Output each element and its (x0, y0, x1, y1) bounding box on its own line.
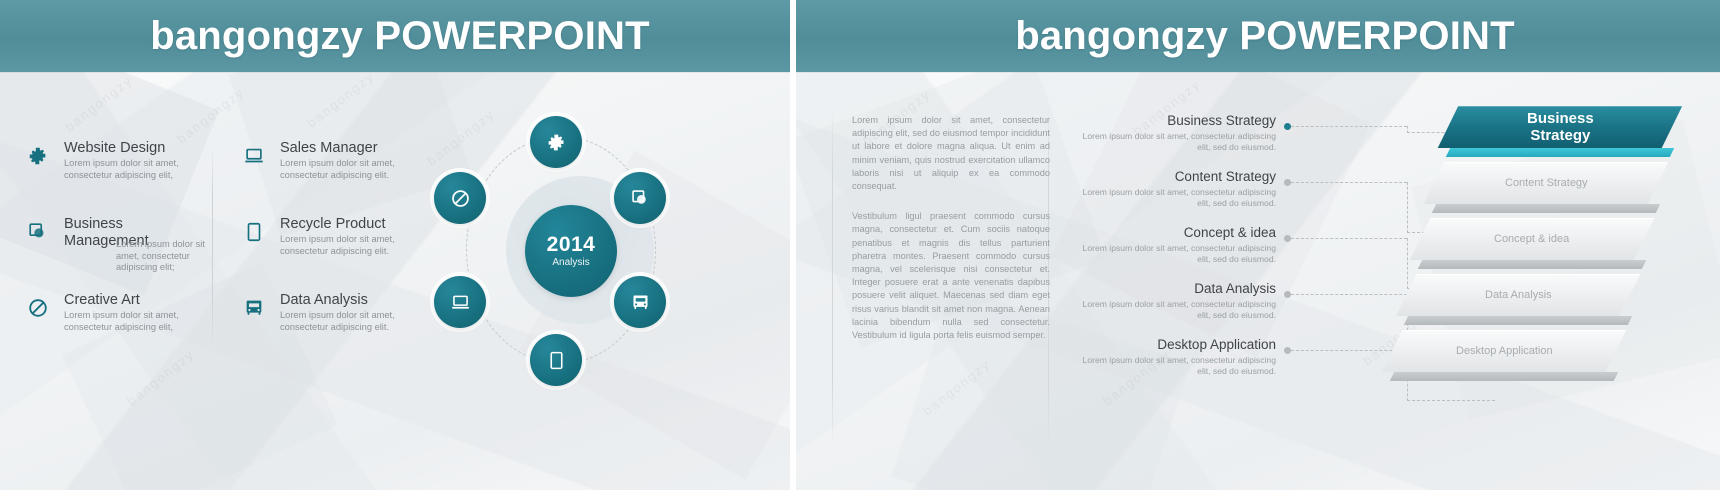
slide-right-body: Lorem ipsum dolor sit amet, consectetur … (796, 72, 1720, 490)
slide-left: bangongzy bangongzy bangongzy bangongzy … (0, 0, 790, 490)
watermark: bangongzy (304, 68, 378, 130)
bus-icon (242, 296, 266, 320)
feature-item[interactable]: Sales Manager Lorem ipsum dolor sit amet… (242, 140, 398, 216)
list-item-title: Content Strategy (1068, 168, 1276, 185)
puzzle-icon (26, 144, 50, 168)
diagram-node-copy-icon[interactable] (614, 172, 666, 224)
list-item[interactable]: Concept & idea Lorem ipsum dolor sit ame… (1068, 224, 1280, 280)
slide-right: bangongzy bangongzy bangongzy bangongzy … (796, 0, 1720, 490)
connector-dot (1284, 347, 1291, 354)
feature-lists: Website Design Lorem ipsum dolor sit ame… (26, 140, 406, 390)
list-item[interactable]: Data Analysis Lorem ipsum dolor sit amet… (1068, 280, 1280, 336)
feature-item[interactable]: Creative Art Lorem ipsum dolor sit amet,… (26, 292, 212, 368)
connector-segment (1291, 182, 1407, 183)
feature-desc: Lorem ipsum dolor sit amet, consectetur … (280, 234, 398, 257)
feature-title: Creative Art (64, 292, 212, 309)
stack-layer-edge (1432, 204, 1660, 213)
stack-layer-face: Content Strategy (1424, 162, 1668, 204)
diagram-node-tablet-icon[interactable] (530, 334, 582, 386)
paragraph: Lorem ipsum dolor sit amet, consectetur … (852, 114, 1050, 193)
diagram-node-puzzle-icon[interactable] (530, 116, 582, 168)
page-title: bangongzy POWERPOINT (1015, 14, 1515, 59)
list-item-desc: Lorem ipsum dolor sit amet, consectetur … (1068, 299, 1276, 321)
page-title: bangongzy POWERPOINT (150, 14, 650, 59)
feature-item[interactable]: Recycle Product Lorem ipsum dolor sit am… (242, 216, 398, 292)
tablet-icon (242, 220, 266, 244)
stack-layer-face: Desktop Application (1382, 330, 1626, 372)
feature-column-right: Sales Manager Lorem ipsum dolor sit amet… (212, 140, 398, 390)
list-item[interactable]: Desktop Application Lorem ipsum dolor si… (1068, 336, 1280, 392)
watermark: bangongzy (174, 84, 248, 146)
feature-desc: Lorem ipsum dolor sit amet, consectetur … (280, 310, 398, 333)
feature-item[interactable]: Data Analysis Lorem ipsum dolor sit amet… (242, 292, 398, 368)
hub-subtitle: Analysis (552, 257, 589, 268)
column-divider (212, 146, 213, 350)
feature-desc: Lorem ipsum dolor sit amet, consectetur … (64, 158, 204, 181)
connector-dot (1284, 235, 1291, 242)
watermark: bangongzy (62, 72, 136, 134)
feature-desc: Lorem ipsum dolor sit amet, consectetur … (280, 158, 398, 181)
connector-segment (1291, 238, 1407, 239)
diagram-node-bus-icon[interactable] (614, 276, 666, 328)
feature-title: Data Analysis (280, 292, 398, 309)
stack-layer-label: Business Strategy (1527, 110, 1594, 144)
slide-pair: bangongzy bangongzy bangongzy bangongzy … (0, 0, 1720, 490)
list-item-desc: Lorem ipsum dolor sit amet, consectetur … (1068, 131, 1276, 153)
connector-segment (1291, 126, 1407, 127)
feature-desc: Lorem ipsum dolor sit amet, consectetur … (64, 310, 204, 333)
diagram-hub: 2014 Analysis (525, 205, 617, 297)
stack-layer-edge (1418, 260, 1646, 269)
list-item-title: Concept & idea (1068, 224, 1276, 241)
stack-layer-face: Data Analysis (1396, 274, 1640, 316)
stack-layer-label: Desktop Application (1456, 345, 1553, 357)
connector-dot (1284, 123, 1291, 130)
stack-layer-label: Concept & idea (1494, 233, 1569, 245)
feature-desc: Lorem ipsum dolor sit amet, consectetur … (116, 239, 212, 274)
copy-icon (26, 220, 50, 244)
list-item-desc: Lorem ipsum dolor sit amet, consectetur … (1068, 243, 1276, 265)
list-item-title: Desktop Application (1068, 336, 1276, 353)
layered-stack-diagram: Business Strategy Content Strategy Conce… (1392, 106, 1692, 446)
feature-title: Website Design (64, 140, 212, 157)
description-paragraphs: Lorem ipsum dolor sit amet, consectetur … (852, 114, 1050, 342)
list-item[interactable]: Business Strategy Lorem ipsum dolor sit … (1068, 112, 1280, 168)
feature-title: Recycle Product (280, 216, 398, 233)
hub-year: 2014 (547, 234, 596, 256)
diagram-node-laptop-icon[interactable] (434, 276, 486, 328)
stack-layer-edge (1446, 148, 1674, 157)
feature-item[interactable]: Website Design Lorem ipsum dolor sit ame… (26, 140, 212, 216)
stack-layer-label: Data Analysis (1485, 289, 1552, 301)
circular-diagram: 2014 Analysis (418, 100, 698, 400)
stack-layer-edge (1390, 372, 1618, 381)
no-entry-icon (26, 296, 50, 320)
feature-item[interactable]: Business Management Lorem ipsum dolor si… (26, 216, 212, 292)
paragraph: Vestibulum ligul praesent commodo cursus… (852, 210, 1050, 342)
feature-title: Sales Manager (280, 140, 398, 157)
list-item-title: Business Strategy (1068, 112, 1276, 129)
slide-right-header: bangongzy POWERPOINT (796, 0, 1720, 72)
list-item-desc: Lorem ipsum dolor sit amet, consectetur … (1068, 187, 1276, 209)
strategy-list: Business Strategy Lorem ipsum dolor sit … (1068, 112, 1280, 392)
diagram-node-no-entry-icon[interactable] (434, 172, 486, 224)
stack-layer-label: Content Strategy (1505, 177, 1588, 189)
stack-layer-face: Business Strategy (1438, 106, 1682, 148)
list-item-desc: Lorem ipsum dolor sit amet, consectetur … (1068, 355, 1276, 377)
content-divider-left (832, 108, 833, 448)
laptop-icon (242, 144, 266, 168)
list-item[interactable]: Content Strategy Lorem ipsum dolor sit a… (1068, 168, 1280, 224)
connector-dot (1284, 291, 1291, 298)
stack-layer-edge (1404, 316, 1632, 325)
feature-column-left: Website Design Lorem ipsum dolor sit ame… (26, 140, 212, 390)
slide-left-header: bangongzy POWERPOINT (0, 0, 790, 72)
list-item-title: Data Analysis (1068, 280, 1276, 297)
stack-layer-face: Concept & idea (1410, 218, 1654, 260)
connector-segment (1291, 350, 1407, 351)
connector-dot (1284, 179, 1291, 186)
connector-segment (1291, 294, 1407, 295)
